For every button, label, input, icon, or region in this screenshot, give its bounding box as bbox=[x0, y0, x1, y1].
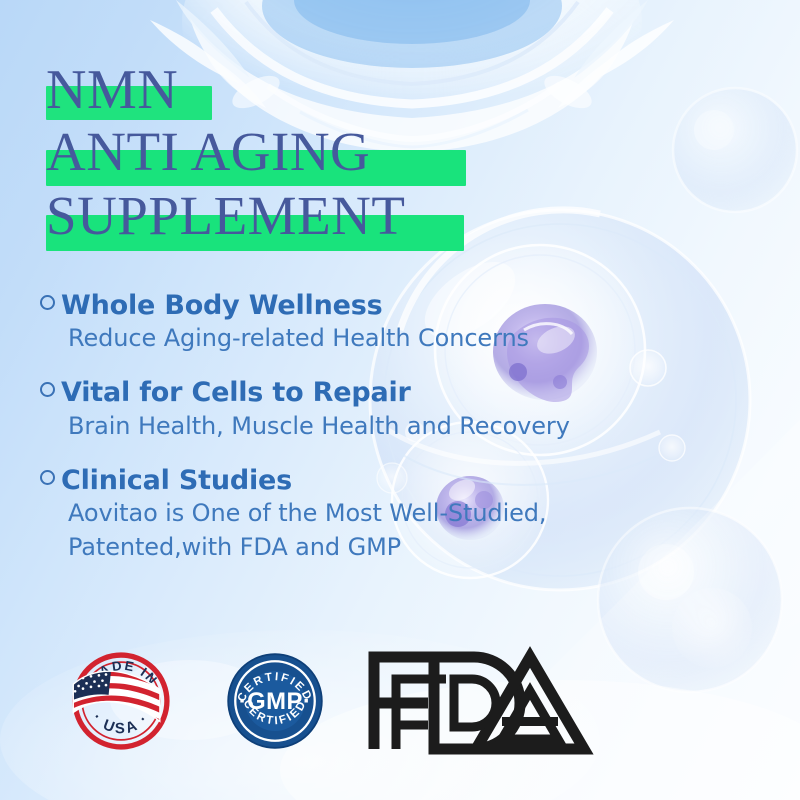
benefit-item-3: Clinical Studies Aovitao is One of the M… bbox=[40, 465, 680, 564]
headline-line-2: ANTI AGING bbox=[46, 124, 566, 186]
headline-line-3-text: SUPPLEMENT bbox=[46, 185, 406, 246]
bubble-top-right bbox=[673, 88, 797, 212]
hollow-circle-bullet-icon bbox=[40, 295, 55, 310]
made-in-usa-badge: · MADE IN · · USA · bbox=[68, 645, 174, 757]
gmp-certified-badge-icon: CERTIFIED CERTIFIED ·GMP· bbox=[222, 645, 328, 757]
headline: NMN ANTI AGING SUPPLEMENT bbox=[46, 62, 566, 250]
gmp-certified-badge: CERTIFIED CERTIFIED ·GMP· bbox=[222, 645, 328, 757]
gmp-center-text: ·GMP· bbox=[239, 688, 311, 715]
headline-line-1-text: NMN bbox=[46, 59, 178, 121]
hollow-circle-bullet-icon bbox=[40, 470, 55, 485]
benefit-heading-1: Whole Body Wellness bbox=[40, 290, 680, 321]
benefit-subtext-3-line-2: Patented,with FDA and GMP bbox=[68, 530, 680, 564]
benefit-subtext-1: Reduce Aging-related Health Concerns bbox=[68, 321, 680, 355]
fda-logo-icon bbox=[362, 645, 618, 757]
hollow-circle-bullet-icon bbox=[40, 382, 55, 397]
benefit-item-1: Whole Body Wellness Reduce Aging-related… bbox=[40, 290, 680, 355]
benefit-heading-2-text: Vital for Cells to Repair bbox=[61, 377, 411, 408]
headline-line-1: NMN bbox=[46, 62, 566, 122]
benefit-subtext-2: Brain Health, Muscle Health and Recovery bbox=[68, 409, 680, 443]
benefit-heading-3-text: Clinical Studies bbox=[61, 465, 292, 496]
fda-badge bbox=[362, 645, 618, 757]
certification-badges: · MADE IN · · USA · bbox=[0, 645, 800, 765]
benefit-item-2: Vital for Cells to Repair Brain Health, … bbox=[40, 377, 680, 442]
headline-line-3: SUPPLEMENT bbox=[46, 188, 566, 250]
product-poster: NMN ANTI AGING SUPPLEMENT Whole Body Wel… bbox=[0, 0, 800, 800]
headline-line-2-text: ANTI AGING bbox=[46, 121, 370, 182]
benefit-heading-1-text: Whole Body Wellness bbox=[61, 290, 383, 321]
benefit-list: Whole Body Wellness Reduce Aging-related… bbox=[40, 290, 680, 564]
made-in-usa-badge-icon: · MADE IN · · USA · bbox=[68, 645, 174, 757]
benefit-heading-2: Vital for Cells to Repair bbox=[40, 377, 680, 408]
benefit-heading-3: Clinical Studies bbox=[40, 465, 680, 496]
benefit-subtext-3-line-1: Aovitao is One of the Most Well-Studied, bbox=[68, 496, 680, 530]
